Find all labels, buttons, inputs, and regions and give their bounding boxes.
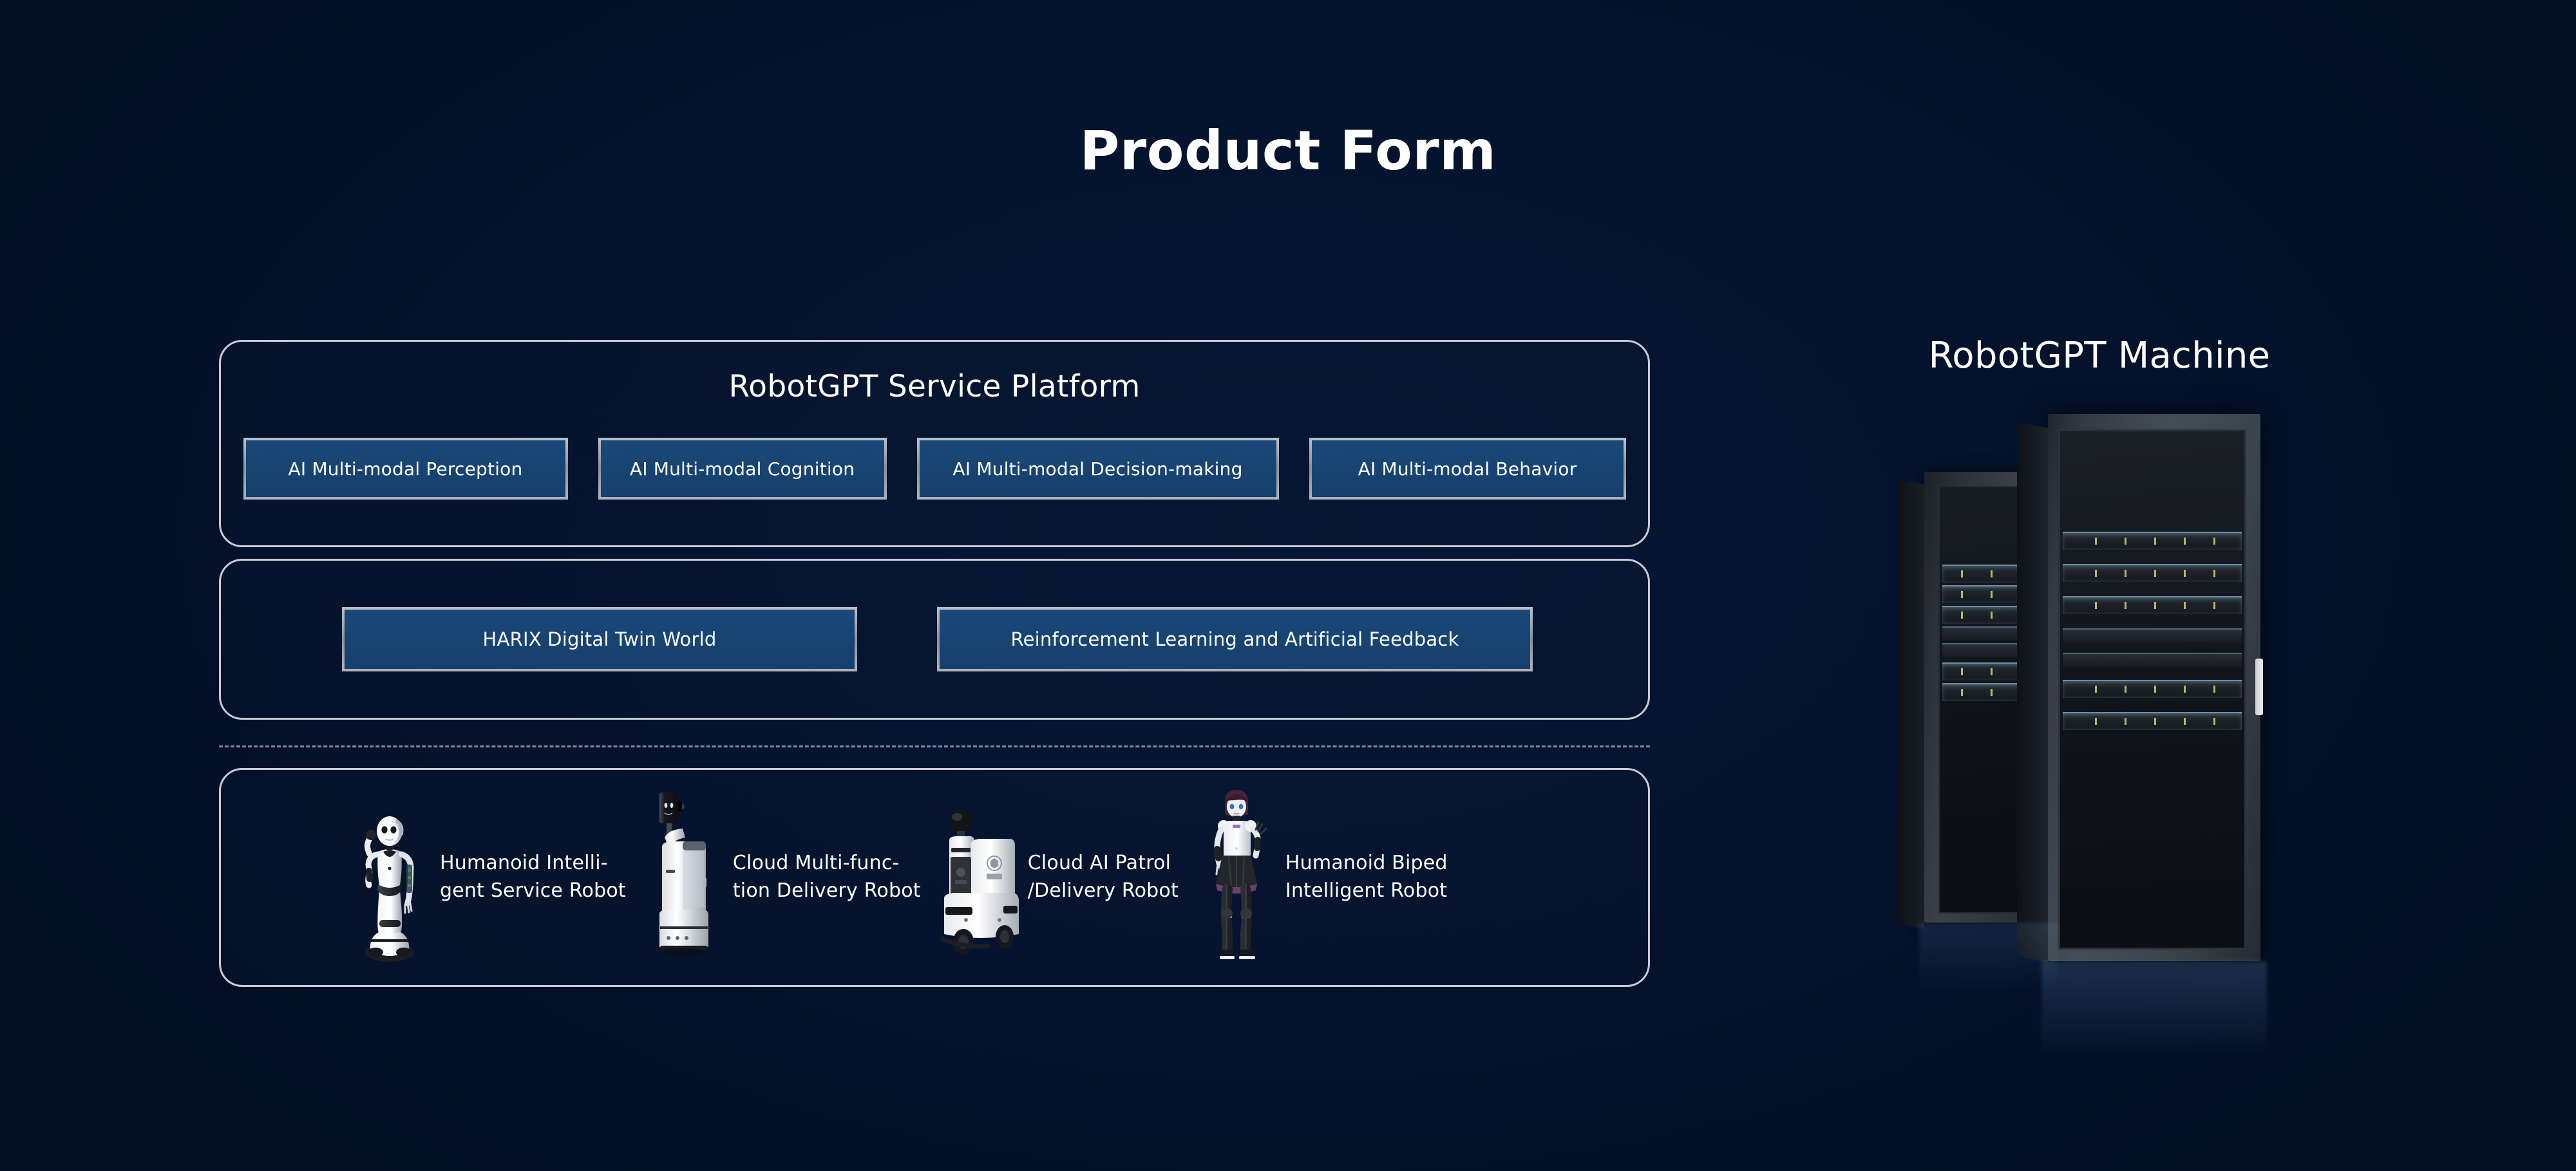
delivery-robot-icon: [643, 787, 726, 968]
list-item[interactable]: Humanoid Intelli- gent Service Robot: [350, 787, 626, 968]
robot-label: Cloud AI Patrol /Delivery Robot: [1028, 850, 1179, 904]
card-robot-products: Humanoid Intelli- gent Service Robot: [219, 768, 1650, 987]
machine-title: RobotGPT Machine: [1855, 335, 2344, 377]
robot-label: Humanoid Biped Intelligent Robot: [1285, 850, 1448, 904]
server-rack-reflection-secondary: [1919, 923, 2058, 993]
server-rack-secondary-side: [1897, 479, 1924, 929]
server-rack-primary-side: [2017, 422, 2048, 962]
server-rack-primary: [2048, 414, 2260, 961]
page-title: Product Form: [0, 119, 2576, 182]
pill-ai-multimodal-cognition[interactable]: AI Multi-modal Cognition: [598, 438, 887, 500]
robot-label: Cloud Multi-func- tion Delivery Robot: [733, 850, 921, 904]
list-item[interactable]: Humanoid Biped Intelligent Robot: [1195, 787, 1448, 968]
robot-label: Humanoid Intelli- gent Service Robot: [440, 850, 626, 904]
server-rack-door-handle[interactable]: [2255, 659, 2263, 715]
patrol-robot-icon: [938, 787, 1021, 968]
humanoid-service-robot-icon: [350, 787, 433, 968]
pill-reinforcement-learning-artificial-feedback[interactable]: Reinforcement Learning and Artificial Fe…: [937, 607, 1533, 671]
pill-ai-multimodal-behavior[interactable]: AI Multi-modal Behavior: [1309, 438, 1626, 500]
list-item[interactable]: Cloud AI Patrol /Delivery Robot: [938, 787, 1179, 968]
server-rack-icon: [1919, 414, 2280, 1006]
capability-pill-row: AI Multi-modal Perception AI Multi-modal…: [221, 438, 1648, 500]
card-modules: HARIX Digital Twin World Reinforcement L…: [219, 559, 1650, 720]
card-service-platform-title: RobotGPT Service Platform: [221, 369, 1648, 404]
list-item[interactable]: Cloud Multi-func- tion Delivery Robot: [643, 787, 921, 968]
section-divider: [219, 745, 1650, 747]
module-pill-row: HARIX Digital Twin World Reinforcement L…: [221, 607, 1648, 671]
pill-harix-digital-twin-world[interactable]: HARIX Digital Twin World: [342, 607, 857, 671]
robot-list: Humanoid Intelli- gent Service Robot: [221, 770, 1648, 985]
server-rack-primary-glass: [2058, 429, 2246, 950]
biped-android-robot-icon: [1195, 787, 1279, 968]
pill-ai-multimodal-perception[interactable]: AI Multi-modal Perception: [243, 438, 568, 500]
card-service-platform: RobotGPT Service Platform AI Multi-modal…: [219, 340, 1650, 547]
machine-block: RobotGPT Machine: [1855, 335, 2344, 1006]
server-rack-reflection-primary: [2041, 961, 2267, 1058]
platform-block: RobotGPT Service Platform AI Multi-modal…: [219, 340, 1650, 987]
pill-ai-multimodal-decision-making[interactable]: AI Multi-modal Decision-making: [917, 438, 1279, 500]
